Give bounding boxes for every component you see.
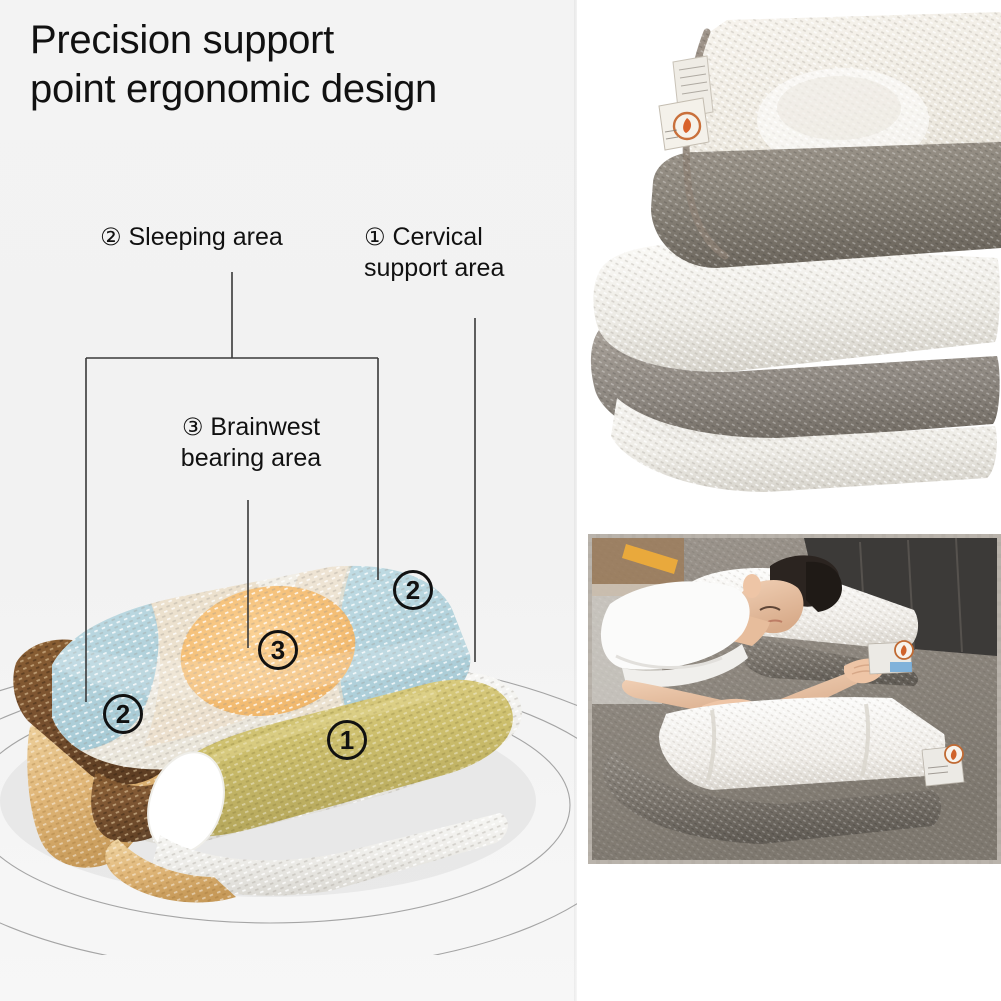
pillow-hang-tag-front (922, 745, 964, 786)
callout-brainwest-line-2: bearing area (146, 443, 356, 474)
circled-one-icon: ① (364, 224, 386, 251)
product-stack-photo (577, 0, 1001, 520)
pillow-hang-tag-back (868, 641, 913, 674)
pillow-marker-zone-1: 1 (327, 720, 367, 760)
lifestyle-sleeping-photo (588, 534, 1001, 864)
callout-leader-lines (0, 0, 577, 1001)
page-title: Precision support point ergonomic design (30, 16, 575, 114)
headline-line-2: point ergonomic design (30, 65, 575, 114)
infographic-root: Precision support point ergonomic design… (0, 0, 1001, 1001)
circled-two-icon: ② (100, 224, 122, 251)
pillow-marker-zone-3: 3 (258, 630, 298, 670)
callout-sleeping-area-label: Sleeping area (128, 223, 282, 251)
callout-brainwest-line-1: Brainwest (210, 413, 320, 441)
pillow-marker-zone-2-right: 2 (393, 570, 433, 610)
headline-line-1: Precision support (30, 16, 575, 65)
callout-brainwest-bearing-area: ③ Brainwest bearing area (146, 412, 356, 473)
callout-cervical-line-2: support area (364, 253, 539, 284)
callout-cervical-line-1: Cervical (392, 223, 482, 251)
callout-sleeping-area: ② Sleeping area (100, 222, 283, 253)
pillow-marker-zone-2-left: 2 (103, 694, 143, 734)
callout-cervical-support-area: ① Cervical support area (364, 222, 539, 283)
circled-three-icon: ③ (182, 414, 204, 441)
